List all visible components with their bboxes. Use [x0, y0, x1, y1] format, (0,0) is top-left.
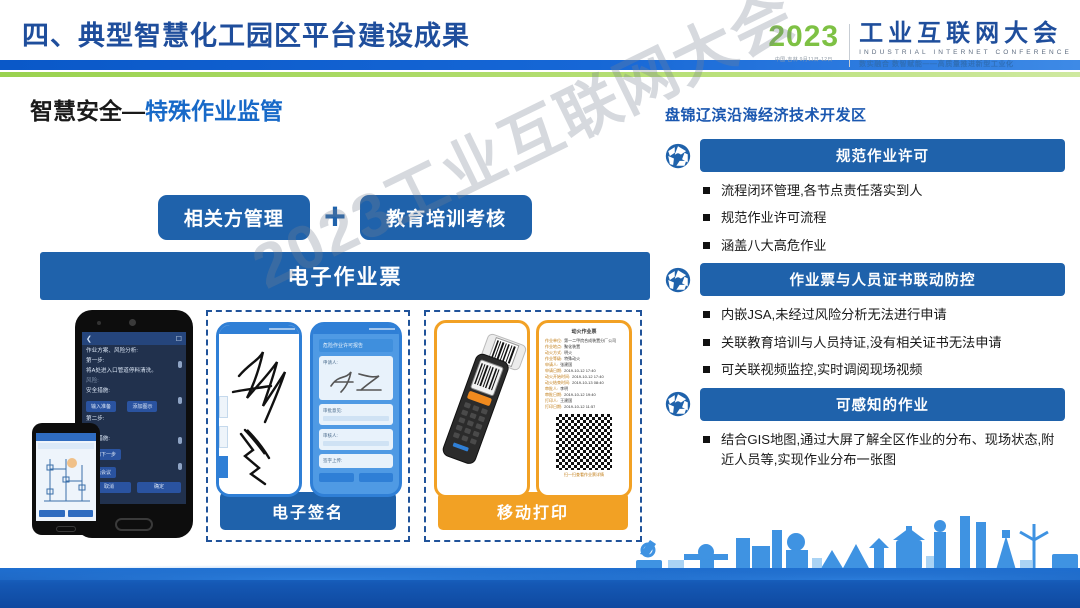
receipt-value: 2019-10-13 08:40: [572, 380, 604, 386]
bullet-square-icon: [703, 214, 710, 221]
app-text-line: 风险:: [82, 375, 186, 385]
flow-top-row: 相关方管理 + 教育培训考核: [40, 195, 650, 240]
bullet-item: 流程闭环管理,各节点责任落实到人: [703, 181, 1065, 201]
feature-block-title: 可感知的作业: [700, 388, 1065, 421]
mic-icon[interactable]: [178, 397, 182, 404]
app-text-line: 将A处进入口管道停料清洗。: [82, 365, 186, 375]
feature-block-header: 规范作业许可: [665, 139, 1065, 172]
app-sub-header: [38, 443, 94, 449]
phone-camera-icon: [129, 319, 136, 326]
logo-year-block: 2023 中国·吉林 9月11日-12日: [768, 22, 849, 63]
permit-form-value: [323, 441, 389, 446]
flow-pill-training: 教育培训考核: [360, 195, 532, 240]
mic-icon[interactable]: [178, 463, 182, 470]
app-button-add-diagram[interactable]: 添加图示: [127, 401, 157, 412]
signature-tool-tab[interactable]: [219, 396, 228, 418]
permit-form-submit-button[interactable]: [359, 473, 394, 482]
bullet-text: 涵盖八大高危作业: [721, 236, 827, 256]
region-title: 盘锦辽滨沿海经济技术开发区: [665, 104, 1065, 125]
feature-block-title: 规范作业许可: [700, 139, 1065, 172]
logo-year: 2023: [768, 22, 839, 52]
receipt-rows: 作业单位:第一二甲烷合成装置分厂公司 作业地点:聚化装置 动火方式:明火 作业等…: [545, 338, 623, 410]
app-text-line: 第二步:: [82, 413, 186, 423]
signature-tool-tab[interactable]: [219, 426, 228, 448]
conference-logo: 2023 中国·吉林 9月11日-12日 工业互联网大会 INDUSTRIAL …: [768, 22, 1072, 69]
section-title-blue: 特殊作业监管: [145, 98, 283, 124]
feature-block-bullets: 流程闭环管理,各节点责任落实到人 规范作业许可流程 涵盖八大高危作业: [703, 181, 1065, 256]
section-title: 智慧安全—特殊作业监管: [30, 92, 283, 126]
receipt-value: 2019-10-12 11:57: [564, 404, 595, 410]
permit-form-cancel-button[interactable]: [319, 473, 354, 482]
feature-block-perceivable-work: 可感知的作业 结合GIS地图,通过大屏了解全区作业的分布、现场状态,附近人员等,…: [665, 388, 1065, 471]
qr-code-icon: [556, 414, 612, 470]
pipeline-schematic-icon: [36, 451, 96, 509]
receipt-title: 动火作业票: [545, 328, 623, 335]
bullet-item: 关联教育培训与人员持证,没有相关证书无法申请: [703, 333, 1065, 353]
bullet-text: 可关联视频监控,实时调阅现场视频: [721, 360, 922, 380]
permit-form-body: 危险作业许可报告 申请人: 审批意见: 审核人: 签字上传:: [313, 334, 399, 487]
bullet-square-icon: [703, 187, 710, 194]
permit-form-value: [323, 416, 389, 421]
feature-block-permit: 规范作业许可 流程闭环管理,各节点责任落实到人 规范作业许可流程 涵盖八大高危作…: [665, 139, 1065, 256]
permit-form-label: 审批意见:: [323, 408, 389, 414]
name-signature-icon: [323, 366, 393, 396]
bullet-square-icon: [703, 242, 710, 249]
flow-result-bar: 电子作业票: [40, 252, 650, 300]
bullet-item: 内嵌JSA,未经过风险分析无法进行申请: [703, 305, 1065, 325]
app-button-input-prep[interactable]: 输入准备: [86, 401, 116, 412]
feature-block-header: 可感知的作业: [665, 388, 1065, 421]
permit-form-label: 签字上传:: [323, 458, 389, 464]
permit-form-field: 签字上传:: [319, 454, 393, 468]
handwritten-signature-icon: [219, 334, 302, 494]
aperture-icon: [665, 391, 691, 417]
section-title-dark: 智慧安全—: [30, 98, 145, 124]
app-status-bar: [36, 433, 96, 441]
footer-wave: [0, 568, 1080, 608]
feature-block-header: 作业票与人员证书联动防控: [665, 263, 1065, 296]
bullet-item: 规范作业许可流程: [703, 208, 1065, 228]
slide-header: 四、典型智慧化工园区平台建设成果 2023 中国·吉林 9月11日-12日 工业…: [0, 0, 1080, 92]
permit-form-buttons: [319, 473, 393, 482]
phone-sensor-icon: [97, 321, 101, 325]
header-rule-green: [0, 72, 1080, 77]
bullet-square-icon: [703, 366, 710, 373]
signature-confirm-tab[interactable]: [219, 456, 228, 478]
permit-form-phone: 危险作业许可报告 申请人: 审批意见: 审核人: 签字上传:: [310, 322, 402, 497]
screen-share-icon[interactable]: ☐: [176, 335, 182, 343]
permit-form-field: 申请人:: [319, 356, 393, 400]
logo-year-subtitle: 中国·吉林 9月11日-12日: [768, 56, 839, 63]
logo-chinese-name: 工业互联网大会: [859, 22, 1072, 46]
feature-block-bullets: 内嵌JSA,未经过风险分析无法进行申请 关联教育培训与人员持证,没有相关证书无法…: [703, 305, 1065, 380]
logo-divider: [849, 24, 850, 67]
phone-screen-small: [36, 433, 96, 521]
aperture-icon: [665, 267, 691, 293]
logo-english-name: INDUSTRIAL INTERNET CONFERENCE: [859, 49, 1072, 56]
logo-slogan: 数实融合 数智赋能——高质量推进新型工业化: [859, 59, 1072, 69]
mic-icon[interactable]: [178, 361, 182, 368]
right-column: 盘锦辽滨沿海经济技术开发区 规范作业许可 流程闭环管理,各节点责任落实到人 规范…: [665, 104, 1065, 478]
bullet-square-icon: [703, 339, 710, 346]
bullet-text: 关联教育培训与人员持证,没有相关证书无法申请: [721, 333, 1002, 353]
bullet-item: 涵盖八大高危作业: [703, 236, 1065, 256]
app-text-line: 第一步:: [82, 355, 186, 365]
page-title: 四、典型智慧化工园区平台建设成果: [22, 14, 470, 53]
printed-receipt-card: 动火作业票 作业单位:第一二甲烷合成装置分厂公司 作业地点:聚化装置 动火方式:…: [536, 320, 632, 498]
bullet-text: 结合GIS地图,通过大屏了解全区作业的分布、现场状态,附近人员等,实现作业分布一…: [721, 430, 1065, 471]
mic-icon[interactable]: [178, 437, 182, 444]
handheld-printer-icon: [437, 323, 527, 495]
feature-block-bullets: 结合GIS地图,通过大屏了解全区作业的分布、现场状态,附近人员等,实现作业分布一…: [703, 430, 1065, 471]
bullet-item: 可关联视频监控,实时调阅现场视频: [703, 360, 1065, 380]
permit-form-title: 危险作业许可报告: [319, 339, 393, 352]
flow-diagram: 相关方管理 + 教育培训考核 电子作业票: [40, 195, 650, 300]
permit-form-status-bar: [313, 325, 399, 334]
back-arrow-icon[interactable]: ❮: [86, 335, 92, 343]
permit-form-label: 审核人:: [323, 433, 389, 439]
bullet-text: 规范作业许可流程: [721, 208, 827, 228]
feature-block-title: 作业票与人员证书联动防控: [700, 263, 1065, 296]
app-text-line: 安全措施:: [82, 385, 186, 395]
permit-form-field: 审批意见:: [319, 404, 393, 425]
bullet-text: 内嵌JSA,未经过风险分析无法进行申请: [721, 305, 947, 325]
feature-block-certificate-linkage: 作业票与人员证书联动防控 内嵌JSA,未经过风险分析无法进行申请 关联教育培训与…: [665, 263, 1065, 380]
plus-icon: +: [320, 204, 350, 231]
permit-form-field: 审核人:: [319, 429, 393, 450]
app-confirm-button[interactable]: 确定: [137, 482, 181, 493]
permit-form-signature-area[interactable]: [323, 366, 389, 396]
handheld-printer-card: [434, 320, 530, 498]
bullet-item: 结合GIS地图,通过大屏了解全区作业的分布、现场状态,附近人员等,实现作业分布一…: [703, 430, 1065, 471]
bullet-square-icon: [703, 311, 710, 318]
logo-main-block: 工业互联网大会 INDUSTRIAL INTERNET CONFERENCE 数…: [859, 22, 1072, 69]
receipt-footer: 扫一扫查看作业票详情: [545, 472, 623, 478]
receipt-key: 打印日期:: [545, 404, 562, 410]
bullet-text: 流程闭环管理,各节点责任落实到人: [721, 181, 922, 201]
app-text-line: 作业方案、风险分析:: [82, 345, 186, 355]
app-nav-bar: ❮ ☐: [82, 332, 186, 345]
flow-pill-related-party: 相关方管理: [158, 195, 310, 240]
signature-pad-status-bar: [219, 325, 299, 334]
signature-pad-phone: [216, 322, 302, 497]
aperture-icon: [665, 143, 691, 169]
receipt-row: 打印日期:2019-10-12 11:57: [545, 404, 623, 410]
app-button-row: 输入准备 添加图示: [82, 395, 186, 413]
bullet-square-icon: [703, 436, 710, 443]
